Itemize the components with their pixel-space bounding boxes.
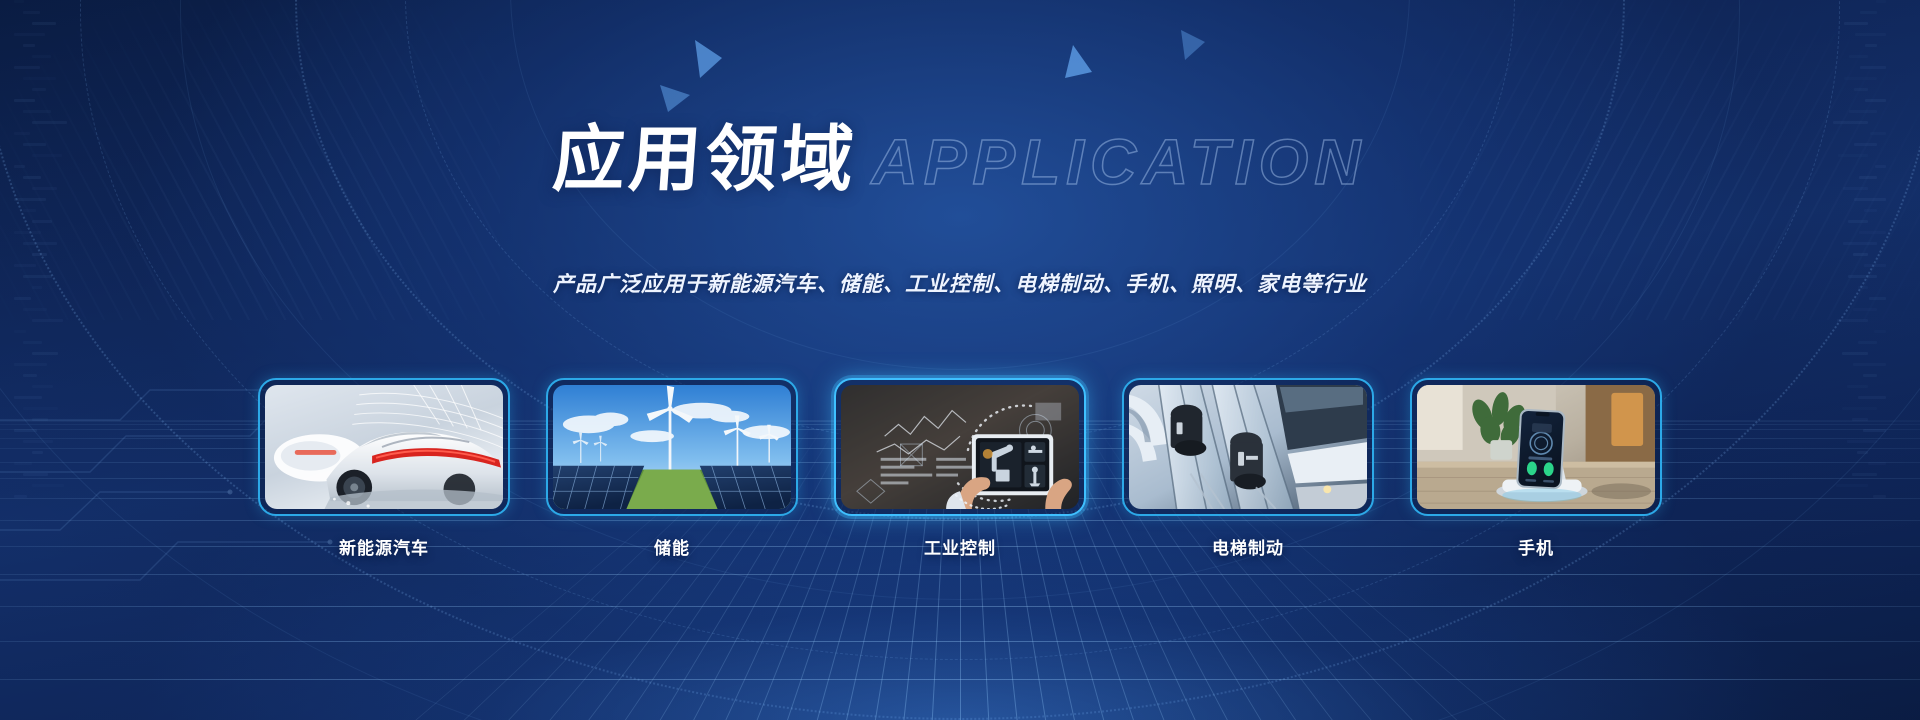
application-card-elevator-braking[interactable]: 电梯制动 xyxy=(1122,378,1374,559)
page-title: 应用领域 xyxy=(551,124,860,196)
glass-elevator-shaft-photo xyxy=(1129,385,1367,509)
banner-subtitle: 产品广泛应用于新能源汽车、储能、工业控制、电梯制动、手机、照明、家电等行业 xyxy=(0,268,1920,298)
card-frame[interactable] xyxy=(834,378,1086,516)
card-label: 工业控制 xyxy=(924,534,996,559)
card-label: 手机 xyxy=(1518,534,1554,559)
electric-sports-car-photo xyxy=(265,385,503,509)
page-title-english: APPLICATION xyxy=(871,130,1366,196)
application-card-mobile-phone[interactable]: 手机 xyxy=(1410,378,1662,559)
card-frame[interactable] xyxy=(546,378,798,516)
application-card-energy-storage[interactable]: 储能 xyxy=(546,378,798,559)
card-frame[interactable] xyxy=(258,378,510,516)
banner-heading: 应用领域 APPLICATION xyxy=(0,124,1920,196)
application-card-list: 新能源汽车 xyxy=(0,378,1920,559)
card-label: 电梯制动 xyxy=(1212,534,1284,559)
application-card-new-energy-vehicle[interactable]: 新能源汽车 xyxy=(258,378,510,559)
card-label: 新能源汽车 xyxy=(339,534,429,559)
smartphone-wireless-charger-photo xyxy=(1417,385,1655,509)
industrial-robot-tablet-control-photo xyxy=(841,385,1079,509)
solar-panels-and-wind-turbines-photo xyxy=(553,385,791,509)
card-frame[interactable] xyxy=(1410,378,1662,516)
card-frame[interactable] xyxy=(1122,378,1374,516)
application-card-industrial-control[interactable]: 工业控制 xyxy=(834,378,1086,559)
card-label: 储能 xyxy=(654,534,690,559)
application-banner: 应用领域 APPLICATION 产品广泛应用于新能源汽车、储能、工业控制、电梯… xyxy=(0,0,1920,720)
